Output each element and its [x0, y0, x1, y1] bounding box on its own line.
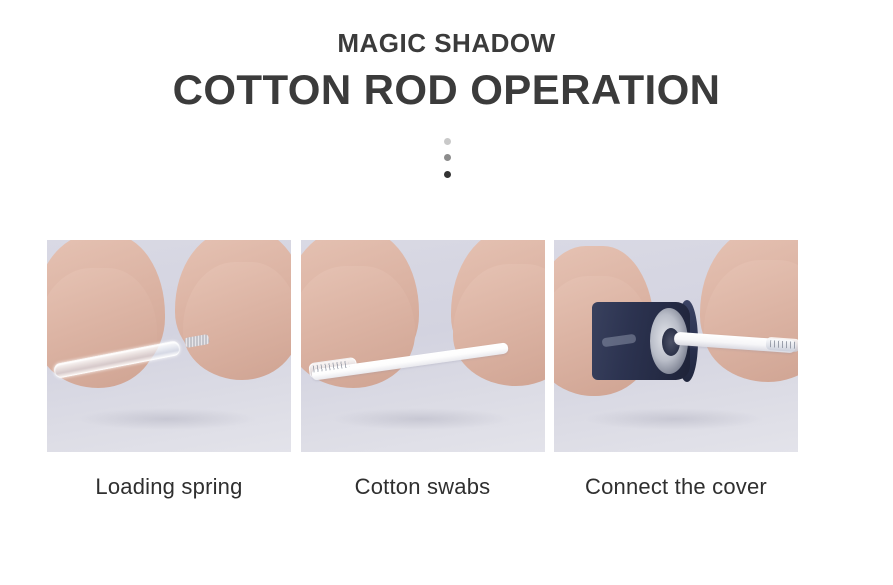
step-panel-cotton-swabs: Cotton swabs — [301, 240, 545, 500]
step-caption: Cotton swabs — [301, 474, 545, 500]
surface-shadow — [331, 408, 511, 430]
step-photo-loading-spring — [47, 240, 291, 452]
divider-dot-light-icon — [444, 138, 451, 145]
step-caption: Connect the cover — [554, 474, 798, 500]
step-panel-group: Loading spring Cotton swabs — [47, 240, 798, 500]
page-title: COTTON ROD OPERATION — [0, 65, 893, 115]
divider-dot-medium-icon — [444, 154, 451, 161]
step-photo-connect-cover — [554, 240, 798, 452]
surface-shadow — [77, 408, 257, 430]
step-panel-loading-spring: Loading spring — [47, 240, 291, 500]
step-caption: Loading spring — [47, 474, 291, 500]
divider-dot-dark-icon — [444, 171, 451, 178]
step-panel-connect-cover: Connect the cover — [554, 240, 798, 500]
surface-shadow — [584, 408, 764, 430]
brand-eyebrow: MAGIC SHADOW — [0, 30, 893, 57]
step-photo-cotton-swabs — [301, 240, 545, 452]
page-header: MAGIC SHADOW COTTON ROD OPERATION — [0, 0, 893, 116]
right-palm — [183, 262, 291, 380]
dot-divider — [0, 138, 893, 178]
